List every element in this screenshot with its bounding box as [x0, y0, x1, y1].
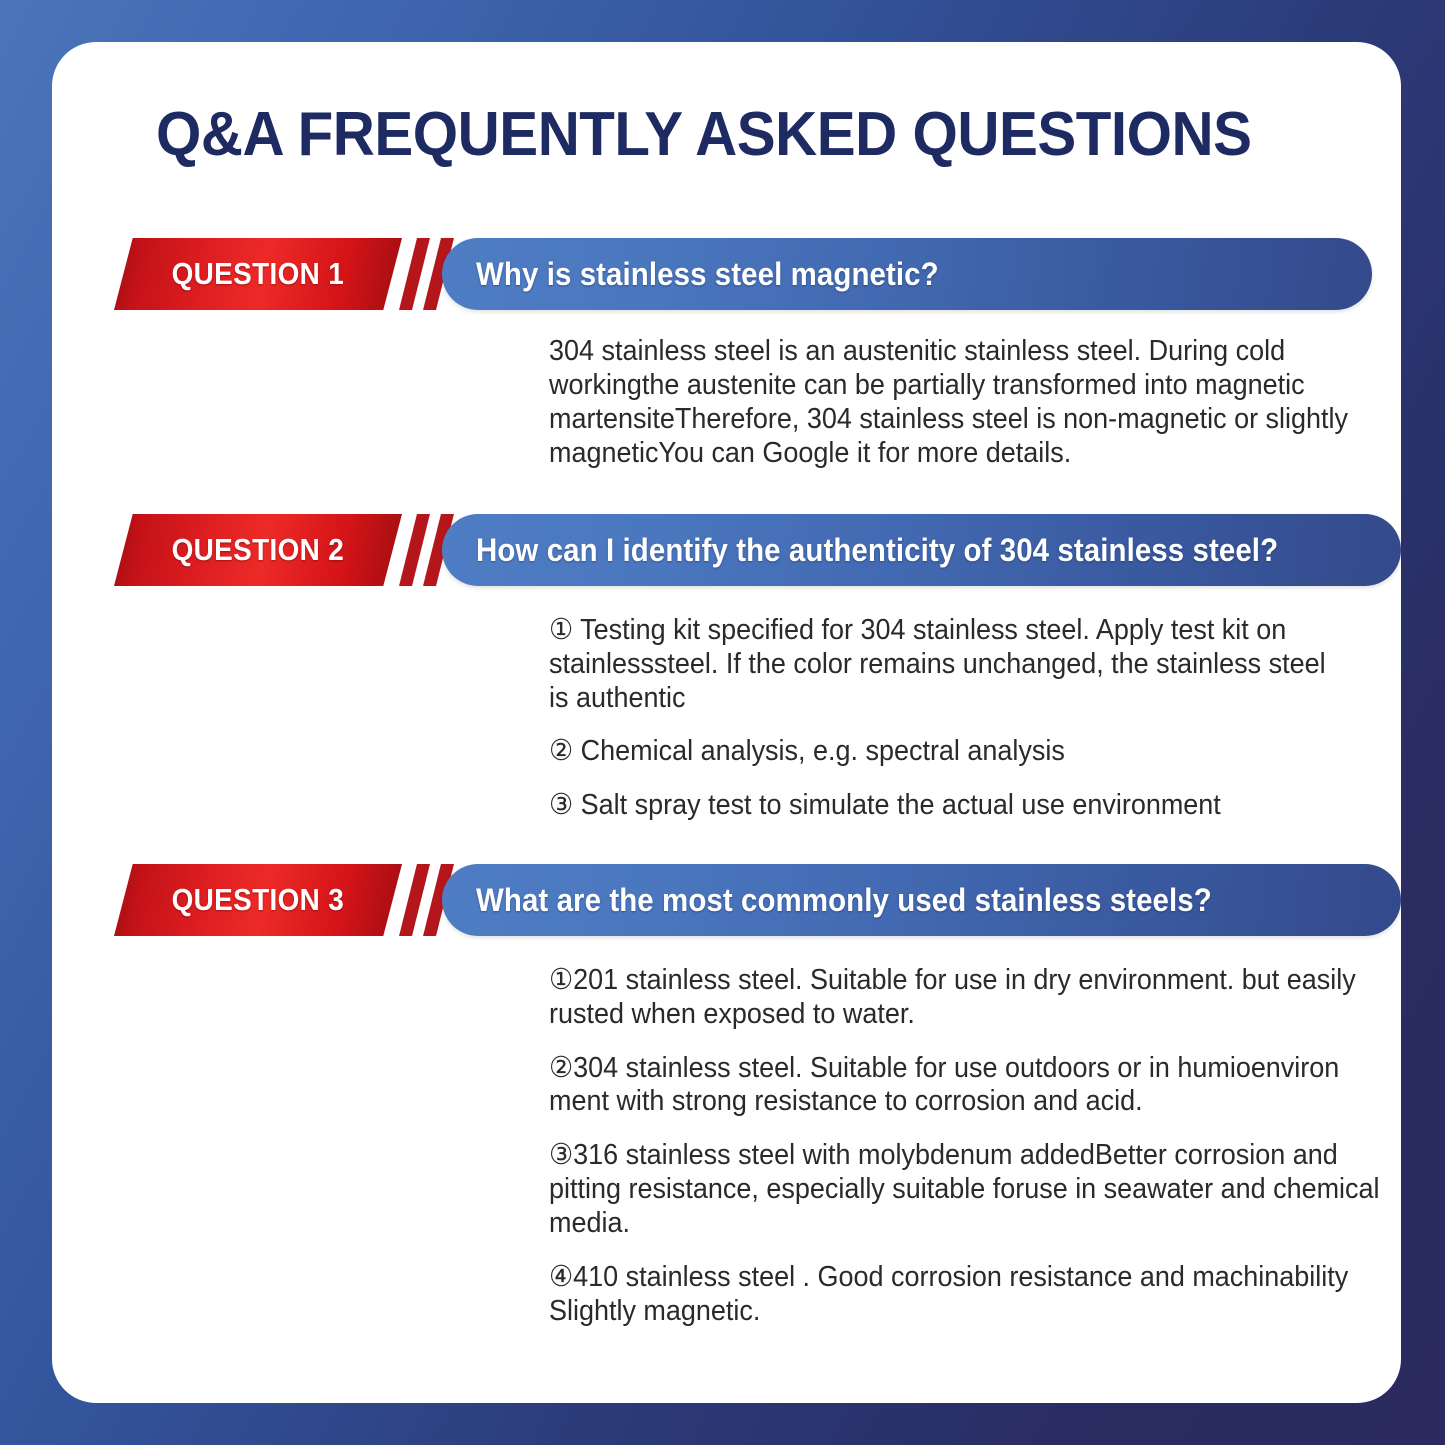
- question-badge-label-1: QUESTION 1: [172, 256, 345, 292]
- page-title: Q&A FREQUENTLY ASKED QUESTIONS: [156, 104, 1284, 166]
- faq-header-2: QUESTION 2 How can I identify the authen…: [52, 514, 1401, 586]
- question-badge-label-3: QUESTION 3: [172, 882, 345, 918]
- question-pill-3[interactable]: What are the most commonly used stainles…: [442, 864, 1401, 936]
- question-badge-1[interactable]: QUESTION 1: [114, 238, 402, 310]
- faq-header-1: QUESTION 1 Why is stainless steel magnet…: [52, 238, 1401, 310]
- question-text-1: Why is stainless steel magnetic?: [476, 256, 939, 293]
- faq-item-3: QUESTION 3 What are the most commonly us…: [52, 864, 1401, 936]
- question-pill-1[interactable]: Why is stainless steel magnetic?: [442, 238, 1372, 310]
- answer-paragraph: ②304 stainless steel. Suitable for use o…: [549, 1052, 1397, 1120]
- answer-paragraph: 304 stainless steel is an austenitic sta…: [549, 335, 1401, 471]
- answer-paragraph: ④410 stainless steel . Good corrosion re…: [549, 1261, 1397, 1329]
- faq-item-1: QUESTION 1 Why is stainless steel magnet…: [52, 238, 1401, 310]
- question-text-3: What are the most commonly used stainles…: [476, 882, 1212, 919]
- answer-paragraph: ① Testing kit specified for 304 stainles…: [549, 614, 1344, 716]
- answer-block-1: 304 stainless steel is an austenitic sta…: [549, 335, 1401, 471]
- question-badge-label-2: QUESTION 2: [172, 532, 345, 568]
- answer-block-3: ①201 stainless steel. Suitable for use i…: [549, 964, 1397, 1328]
- faq-header-3: QUESTION 3 What are the most commonly us…: [52, 864, 1401, 936]
- faq-card: Q&A FREQUENTLY ASKED QUESTIONS QUESTION …: [52, 42, 1401, 1403]
- answer-block-2: ① Testing kit specified for 304 stainles…: [549, 614, 1344, 823]
- question-pill-2[interactable]: How can I identify the authenticity of 3…: [442, 514, 1401, 586]
- answer-paragraph: ③316 stainless steel with molybdenum add…: [549, 1139, 1397, 1241]
- question-text-2: How can I identify the authenticity of 3…: [476, 532, 1278, 569]
- answer-paragraph: ①201 stainless steel. Suitable for use i…: [549, 964, 1397, 1032]
- question-badge-3[interactable]: QUESTION 3: [114, 864, 402, 936]
- answer-paragraph: ③ Salt spray test to simulate the actual…: [549, 789, 1344, 823]
- answer-paragraph: ② Chemical analysis, e.g. spectral analy…: [549, 735, 1344, 769]
- faq-item-2: QUESTION 2 How can I identify the authen…: [52, 514, 1401, 586]
- question-badge-2[interactable]: QUESTION 2: [114, 514, 402, 586]
